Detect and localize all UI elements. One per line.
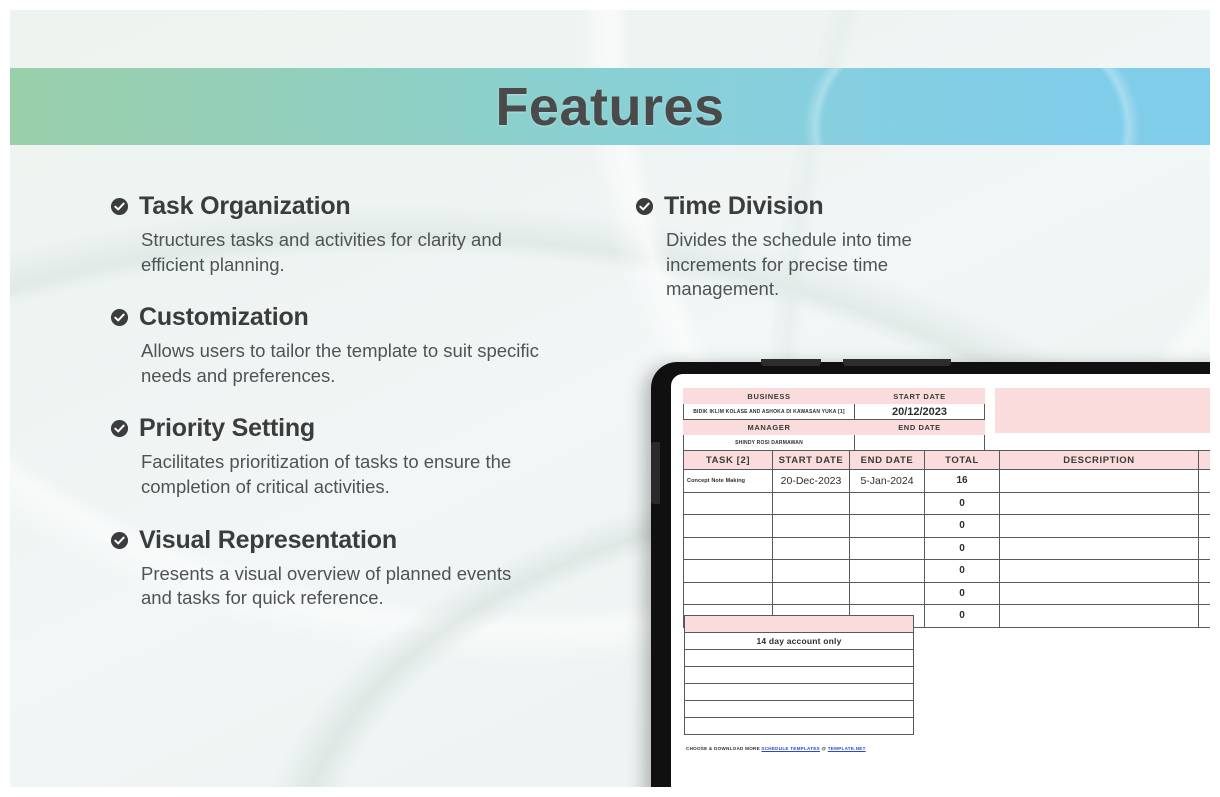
notes-empty-cell[interactable] — [685, 667, 914, 684]
table-row: 0 — [684, 492, 1211, 515]
cell-description[interactable] — [1000, 582, 1199, 605]
spreadsheet-info-table: BUSINESS START DATE BIDIK IKLIM KOLASE A… — [683, 388, 985, 451]
spreadsheet-footer: CHOOSE & DOWNLOAD MORE SCHEDULE TEMPLATE… — [686, 746, 866, 751]
cell-total[interactable]: 0 — [925, 537, 1000, 560]
col-header-extra — [1199, 451, 1211, 470]
cell-description[interactable] — [1000, 515, 1199, 538]
feature-description: Facilitates prioritization of tasks to e… — [141, 450, 541, 499]
table-row: 0 — [684, 515, 1211, 538]
feature-column-right: Time Division Divides the schedule into … — [635, 192, 1035, 328]
cell-start-date[interactable] — [773, 492, 850, 515]
tablet-volume-button[interactable] — [843, 359, 951, 366]
notes-empty-cell[interactable] — [685, 684, 914, 701]
feature-item: Time Division Divides the schedule into … — [635, 192, 1035, 302]
slide-canvas: Features Task Organization Structures ta… — [10, 10, 1210, 787]
cell-task[interactable] — [684, 515, 773, 538]
table-row — [685, 667, 914, 684]
feature-description: Allows users to tailor the template to s… — [141, 339, 541, 388]
check-circle-icon — [635, 197, 654, 216]
cell-task[interactable]: Concept Note Making — [684, 470, 773, 493]
table-row: Concept Note Making 20-Dec-2023 5-Jan-20… — [684, 470, 1211, 493]
notes-empty-cell[interactable] — [685, 650, 914, 667]
cell-extra[interactable] — [1199, 492, 1211, 515]
tablet-screen: FEMININE M BUSINESS START DATE BIDIK IKL… — [671, 374, 1210, 787]
tablet-body: FEMININE M BUSINESS START DATE BIDIK IKL… — [651, 362, 1210, 787]
start-date-label: START DATE — [855, 389, 985, 404]
table-row: MANAGER END DATE — [684, 420, 985, 435]
table-header-row: TASK [2] START DATE END DATE TOTAL DESCR… — [684, 451, 1211, 470]
table-row: SHINDY ROSI DARMAWAN — [684, 435, 985, 451]
cell-extra[interactable] — [1199, 582, 1211, 605]
business-value[interactable]: BIDIK IKLIM KOLASE AND ASHOKA DI KAWASAN… — [684, 404, 855, 420]
feature-title: Priority Setting — [139, 414, 315, 443]
feature-description: Divides the schedule into time increment… — [666, 228, 976, 302]
col-header-total: TOTAL — [925, 451, 1000, 470]
col-header-task: TASK [2] — [684, 451, 773, 470]
cell-start-date[interactable] — [773, 560, 850, 583]
feature-heading: Task Organization — [110, 192, 630, 221]
table-row — [685, 701, 914, 718]
cell-extra[interactable] — [1199, 470, 1211, 493]
feature-item: Customization Allows users to tailor the… — [110, 303, 630, 388]
cell-total[interactable]: 0 — [925, 492, 1000, 515]
cell-start-date[interactable] — [773, 537, 850, 560]
cell-total[interactable]: 0 — [925, 560, 1000, 583]
check-circle-icon — [110, 197, 129, 216]
cell-extra[interactable] — [1199, 515, 1211, 538]
feature-item: Visual Representation Presents a visual … — [110, 526, 630, 611]
tablet-mockup: FEMININE M BUSINESS START DATE BIDIK IKL… — [643, 362, 1210, 787]
col-header-start-date: START DATE — [773, 451, 850, 470]
cell-end-date[interactable] — [850, 492, 925, 515]
business-label: BUSINESS — [684, 389, 855, 404]
check-circle-icon — [110, 419, 129, 438]
cell-total[interactable]: 0 — [925, 605, 1000, 628]
start-date-value[interactable]: 20/12/2023 — [855, 404, 985, 420]
table-row: 0 — [684, 537, 1211, 560]
cell-task[interactable] — [684, 537, 773, 560]
feature-column-left: Task Organization Structures tasks and a… — [110, 192, 630, 637]
spreadsheet-task-table: TASK [2] START DATE END DATE TOTAL DESCR… — [683, 450, 1210, 628]
feature-title: Task Organization — [139, 192, 350, 221]
feature-description: Presents a visual overview of planned ev… — [141, 562, 541, 611]
feature-item: Task Organization Structures tasks and a… — [110, 192, 630, 277]
table-row: BUSINESS START DATE — [684, 389, 985, 404]
notes-band — [685, 616, 914, 633]
spreadsheet: FEMININE M BUSINESS START DATE BIDIK IKL… — [683, 388, 1210, 451]
feature-title: Visual Representation — [139, 526, 397, 555]
table-row: 0 — [684, 582, 1211, 605]
cell-total[interactable]: 16 — [925, 470, 1000, 493]
page-title: Features — [495, 76, 724, 138]
cell-end-date[interactable] — [850, 560, 925, 583]
cell-extra[interactable] — [1199, 537, 1211, 560]
notes-empty-cell[interactable] — [685, 718, 914, 735]
cell-end-date[interactable] — [850, 537, 925, 560]
feature-heading: Priority Setting — [110, 414, 630, 443]
manager-label: MANAGER — [684, 420, 855, 435]
footer-link-schedule-templates[interactable]: SCHEDULE TEMPLATES — [761, 746, 820, 751]
spreadsheet-notes-table: 14 day account only — [684, 615, 914, 735]
table-row: 14 day account only — [685, 633, 914, 650]
footer-link-template-net[interactable]: TEMPLATE.NET — [828, 746, 866, 751]
cell-description[interactable] — [1000, 537, 1199, 560]
notes-title[interactable]: 14 day account only — [685, 633, 914, 650]
feature-title: Customization — [139, 303, 309, 332]
check-circle-icon — [110, 531, 129, 550]
footer-middle: @ — [820, 746, 828, 751]
table-row — [685, 616, 914, 633]
table-row — [685, 684, 914, 701]
feature-heading: Visual Representation — [110, 526, 630, 555]
table-row — [685, 650, 914, 667]
cell-task[interactable] — [684, 492, 773, 515]
cell-total[interactable]: 0 — [925, 515, 1000, 538]
tablet-power-button[interactable] — [761, 359, 821, 366]
spreadsheet-doc-title: FEMININE M — [1059, 400, 1210, 422]
cell-description[interactable] — [1000, 605, 1199, 628]
cell-extra[interactable] — [1199, 560, 1211, 583]
cell-start-date[interactable] — [773, 582, 850, 605]
cell-task[interactable] — [684, 582, 773, 605]
feature-title: Time Division — [664, 192, 824, 221]
cell-description[interactable] — [1000, 492, 1199, 515]
cell-start-date[interactable] — [773, 515, 850, 538]
cell-task[interactable] — [684, 560, 773, 583]
feature-heading: Customization — [110, 303, 630, 332]
feature-item: Priority Setting Facilitates prioritizat… — [110, 414, 630, 499]
manager-value[interactable]: SHINDY ROSI DARMAWAN — [684, 435, 855, 451]
cell-description[interactable] — [1000, 560, 1199, 583]
notes-empty-cell[interactable] — [685, 701, 914, 718]
cell-start-date[interactable]: 20-Dec-2023 — [773, 470, 850, 493]
table-row: 0 — [684, 560, 1211, 583]
table-row: BIDIK IKLIM KOLASE AND ASHOKA DI KAWASAN… — [684, 404, 985, 420]
col-header-description: DESCRIPTION — [1000, 451, 1199, 470]
cell-description[interactable] — [1000, 470, 1199, 493]
check-circle-icon — [110, 308, 129, 327]
header-banner: Features — [10, 68, 1210, 145]
col-header-end-date: END DATE — [850, 451, 925, 470]
end-date-value[interactable] — [855, 435, 985, 451]
feature-description: Structures tasks and activities for clar… — [141, 228, 541, 277]
feature-heading: Time Division — [635, 192, 1035, 221]
table-row — [685, 718, 914, 735]
end-date-label: END DATE — [855, 420, 985, 435]
spreadsheet-title-band: FEMININE M — [995, 388, 1210, 433]
tablet-side-button[interactable] — [651, 442, 660, 504]
cell-extra[interactable] — [1199, 605, 1211, 628]
cell-end-date[interactable] — [850, 515, 925, 538]
cell-end-date[interactable] — [850, 582, 925, 605]
footer-prefix: CHOOSE & DOWNLOAD MORE — [686, 746, 761, 751]
cell-end-date[interactable]: 5-Jan-2024 — [850, 470, 925, 493]
cell-total[interactable]: 0 — [925, 582, 1000, 605]
